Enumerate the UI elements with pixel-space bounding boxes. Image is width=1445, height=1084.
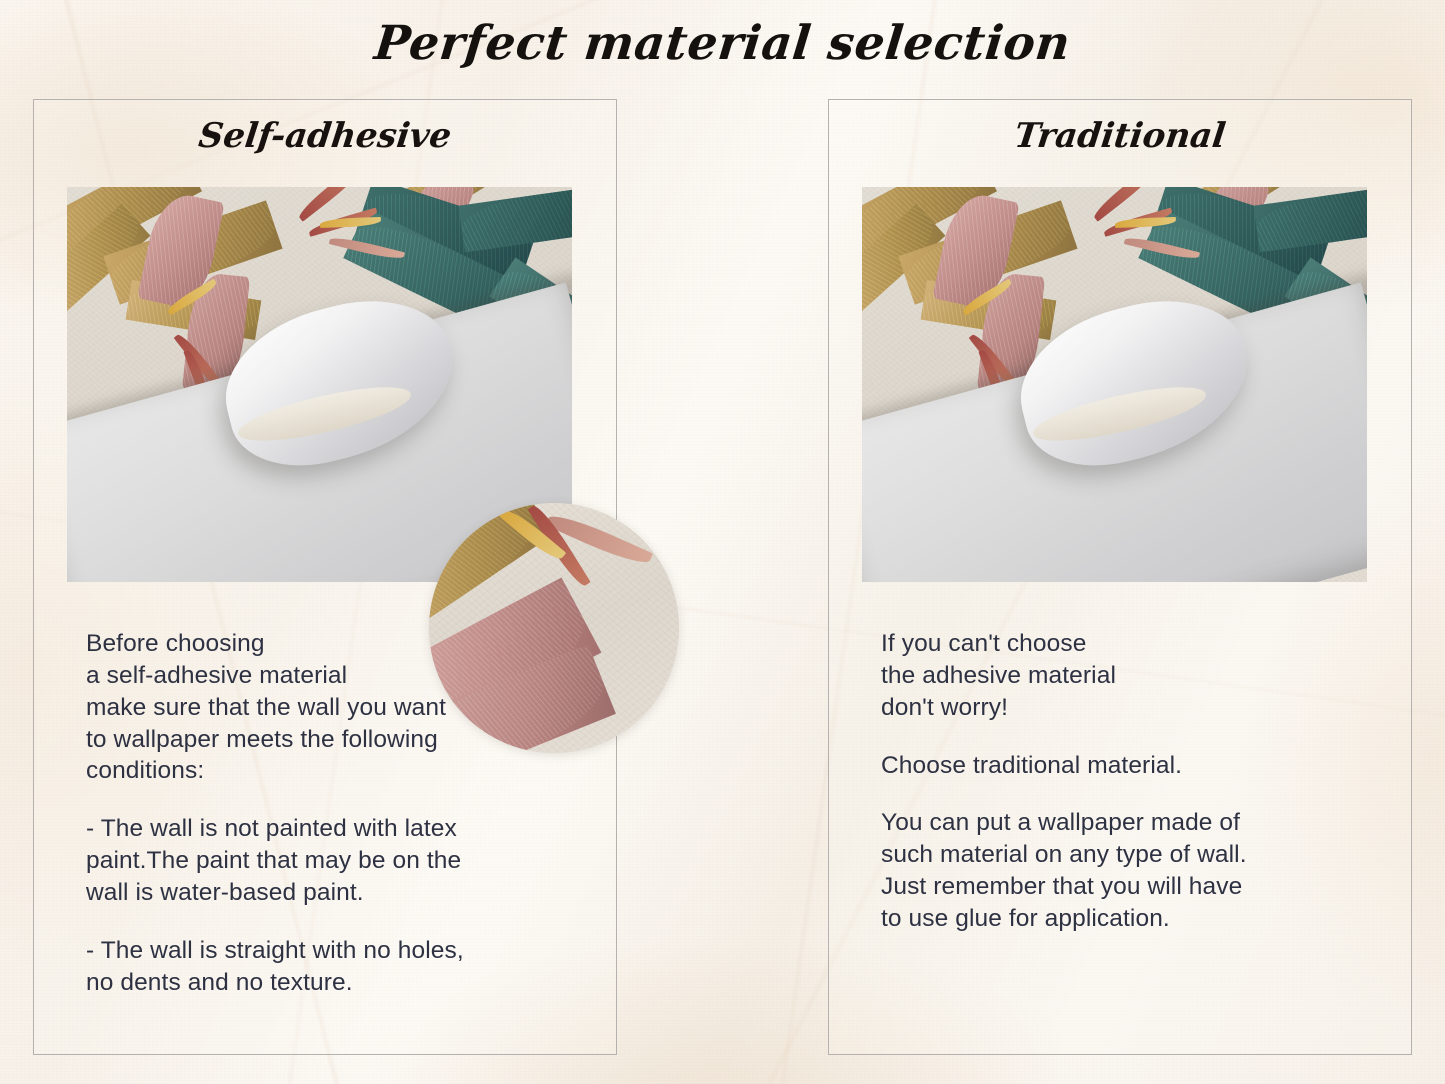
paragraph: If you can't choose the adhesive materia… — [881, 628, 1361, 724]
paragraph: Before choosing a self-adhesive material… — [86, 628, 576, 787]
page-title: Perfect material selection — [0, 16, 1445, 71]
card-self-adhesive: Self-adhesive — [33, 99, 617, 1055]
wallpaper-mockup-traditional — [862, 187, 1367, 582]
card-traditional: Traditional I — [828, 99, 1412, 1055]
paragraph: Choose traditional material. — [881, 750, 1361, 782]
paragraph: - The wall is straight with no holes, no… — [86, 935, 576, 999]
paragraph: You can put a wallpaper made of such mat… — [881, 807, 1361, 934]
body-copy-traditional: If you can't choose the adhesive materia… — [881, 628, 1361, 935]
body-copy-self-adhesive: Before choosing a self-adhesive material… — [86, 628, 576, 998]
card-heading-self-adhesive: Self-adhesive — [32, 116, 619, 156]
card-heading-traditional: Traditional — [827, 116, 1414, 156]
paragraph: - The wall is not painted with latex pai… — [86, 813, 576, 909]
